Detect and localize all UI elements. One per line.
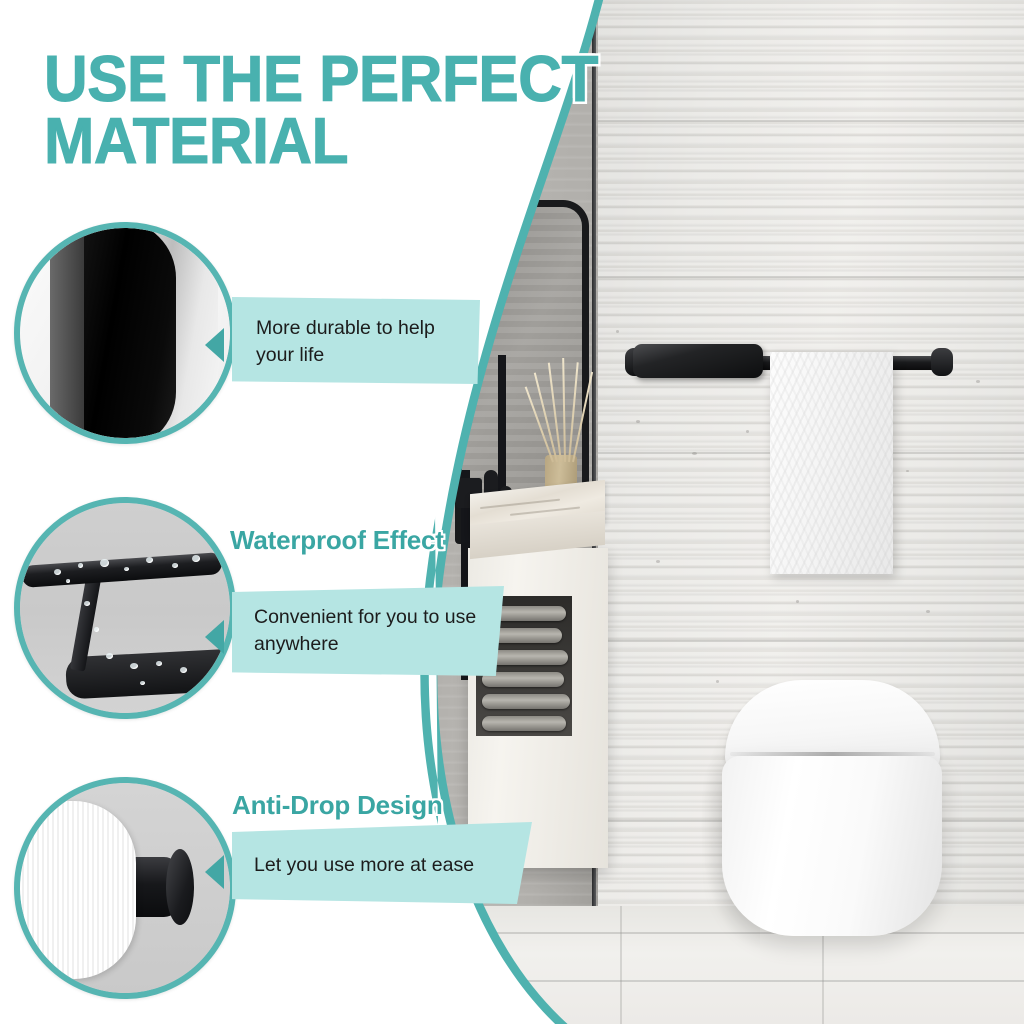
feature-image-anti-drop [14,777,236,999]
headline-line-2: MATERIAL [44,110,658,172]
callout-arrow-waterproof [205,620,224,654]
callout-arrow-durable [205,328,224,362]
callout-text-anti-drop: Let you use more at ease [254,852,516,879]
mirror-support-stem-2 [498,355,506,505]
callout-durable: More durable to help your life [232,297,480,384]
callout-waterproof: Convenient for you to use anywhere [232,586,504,676]
callout-anti-drop: Let you use more at ease [232,822,532,904]
callout-text-waterproof: Convenient for you to use anywhere [254,604,494,658]
infographic-root: USE THE PERFECT MATERIAL More durable to… [0,0,1024,1024]
hanging-white-towel [770,352,893,574]
callout-arrow-anti-drop [205,855,224,889]
wall-hung-toilet [722,756,942,936]
feature-image-waterproof [14,497,236,719]
feature-image-durable [14,222,236,444]
feature-heading-anti-drop: Anti-Drop Design [232,790,443,821]
feature-heading-waterproof: Waterproof Effect [230,525,444,556]
callout-text-durable: More durable to help your life [256,315,466,369]
page-title: USE THE PERFECT MATERIAL [44,48,658,173]
